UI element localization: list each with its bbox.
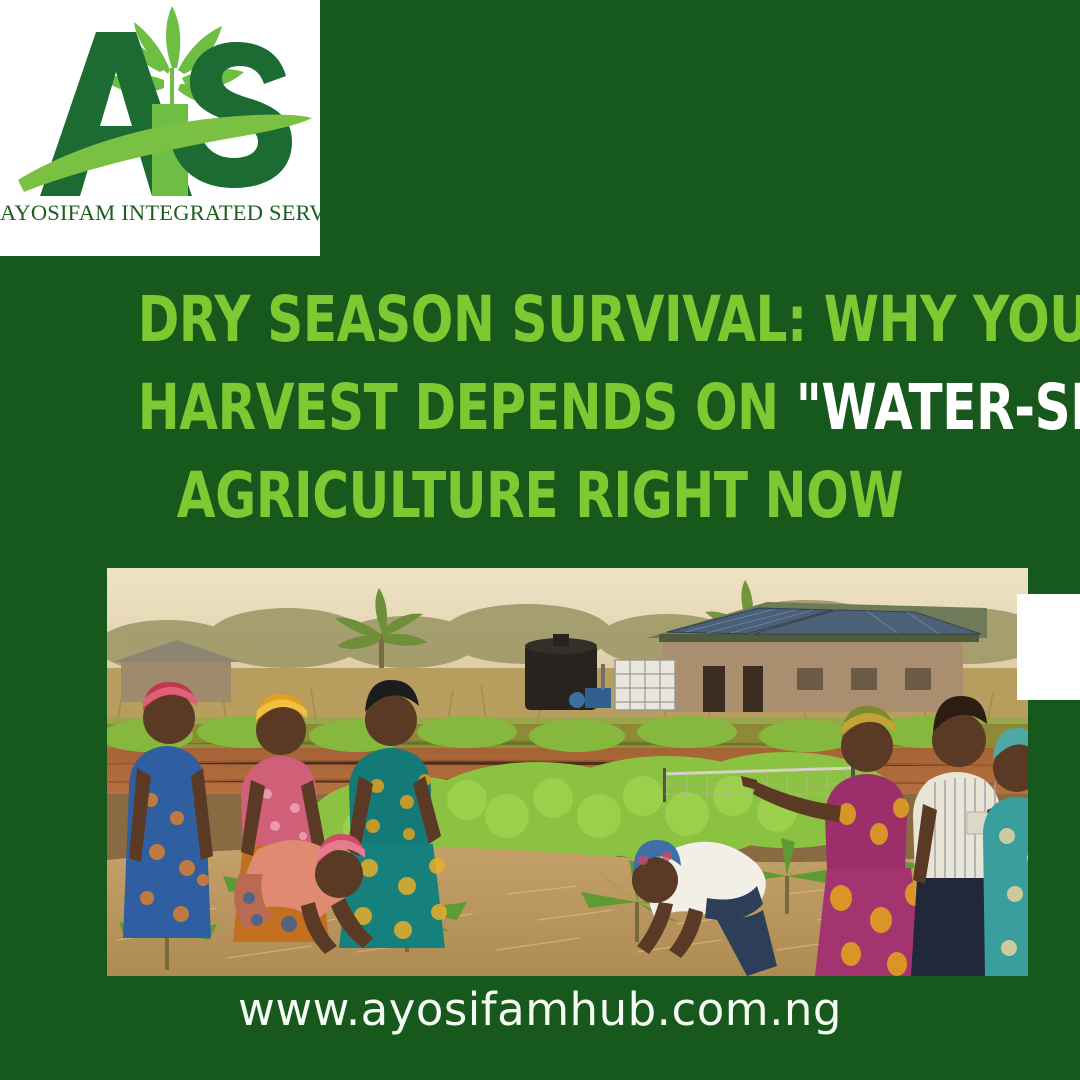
headline-line-2-prefix: HARVEST DEPENDS ON — [138, 371, 796, 444]
window-3 — [905, 668, 931, 690]
logo-company-name: AYOSIFAM INTEGRATED SERVICE LTD — [0, 200, 320, 226]
headline-accent-phrase: "WATER-SMART" — [796, 371, 1080, 444]
window — [797, 668, 823, 690]
headline-line-2: HARVEST DEPENDS ON "WATER-SMART" — [138, 364, 943, 452]
website-url[interactable]: www.ayosifamhub.com.ng — [0, 983, 1080, 1036]
social-media-poster: AYOSIFAM INTEGRATED SERVICE LTD DRY SEAS… — [0, 0, 1080, 1080]
company-logo-card: AYOSIFAM INTEGRATED SERVICE LTD — [0, 0, 320, 256]
door — [703, 666, 725, 712]
ais-logo-mark — [0, 0, 320, 208]
window-2 — [851, 668, 877, 690]
right-edge-white-block — [1017, 594, 1080, 700]
headline: DRY SEASON SURVIVAL: WHY YOUR 2026 HARVE… — [111, 276, 970, 540]
headline-line-1: DRY SEASON SURVIVAL: WHY YOUR 2026 — [138, 276, 943, 364]
ibc-water-tote — [615, 660, 675, 710]
farm-photo — [107, 568, 1028, 976]
door-2 — [743, 666, 763, 712]
headline-line-3: AGRICULTURE RIGHT NOW — [138, 452, 943, 540]
